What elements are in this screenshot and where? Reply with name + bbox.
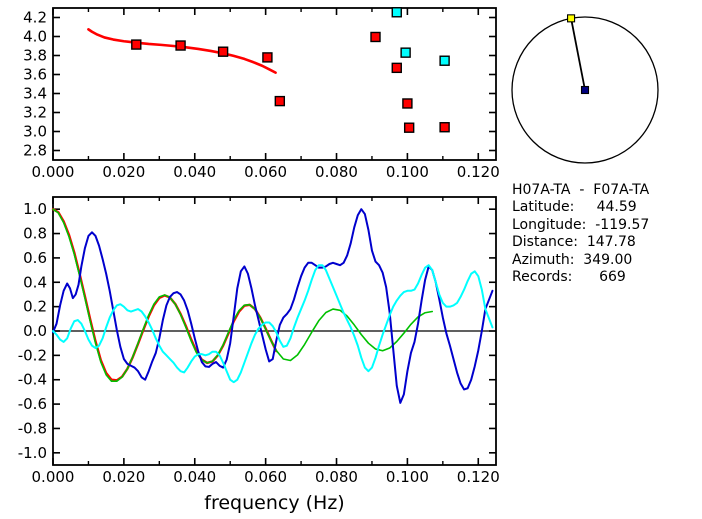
y-tick-label: 4.0 <box>23 28 47 46</box>
y-tick-label: -0.8 <box>18 419 47 437</box>
station-info-panel: H07A-TA - F07A-TA Latitude: 44.59 Longit… <box>512 182 702 286</box>
info-line-longitude: Longitude: -119.57 <box>512 217 702 234</box>
x-tick-label: 0.060 <box>244 163 287 181</box>
azimuth-ray <box>571 18 585 90</box>
y-tick-label: -1.0 <box>18 444 47 462</box>
y-tick-label: 0.6 <box>23 249 47 267</box>
x-tick-label: 0.100 <box>386 163 429 181</box>
x-tick-label: 0.120 <box>457 163 500 181</box>
x-tick-label: 0.120 <box>457 468 500 486</box>
dispersion-plot: 0.0000.0200.0400.0600.0800.1000.1202.83.… <box>23 8 500 181</box>
data-marker <box>405 123 414 132</box>
cross-correlation-plot: 0.0000.0200.0400.0600.0800.1000.120-1.0-… <box>18 197 500 514</box>
data-marker <box>392 63 401 72</box>
y-tick-label: -0.2 <box>18 346 47 364</box>
x-tick-label: 0.100 <box>386 468 429 486</box>
y-tick-label: -0.4 <box>18 371 47 389</box>
plot-frame <box>53 8 496 160</box>
data-marker <box>401 48 410 57</box>
data-marker <box>440 123 449 132</box>
info-line-azimuth: Azimuth: 349.00 <box>512 252 702 269</box>
x-tick-label: 0.040 <box>173 163 216 181</box>
y-tick-label: 1.0 <box>23 200 47 218</box>
y-tick-label: 0.4 <box>23 273 47 291</box>
y-tick-label: 0.8 <box>23 225 47 243</box>
data-marker <box>275 97 284 106</box>
data-marker <box>176 41 185 50</box>
y-tick-label: 0.2 <box>23 298 47 316</box>
info-line-distance: Distance: 147.78 <box>512 234 702 251</box>
x-tick-label: 0.080 <box>315 468 358 486</box>
curve-cyan-observed <box>53 265 492 382</box>
curve-blue-observed <box>53 209 492 403</box>
x-tick-label: 0.060 <box>244 468 287 486</box>
data-marker <box>371 32 380 41</box>
y-tick-label: -0.6 <box>18 395 47 413</box>
data-marker <box>403 99 412 108</box>
data-marker <box>132 40 141 49</box>
y-tick-label: 3.6 <box>23 66 47 84</box>
data-marker <box>440 56 449 65</box>
azimuth-endpoint-marker <box>568 15 575 22</box>
y-tick-label: 3.8 <box>23 47 47 65</box>
y-tick-label: 3.0 <box>23 123 47 141</box>
y-tick-label: 4.2 <box>23 9 47 27</box>
x-tick-label: 0.040 <box>173 468 216 486</box>
y-tick-label: 3.4 <box>23 85 47 103</box>
data-marker <box>263 53 272 62</box>
info-line-title: H07A-TA - F07A-TA <box>512 182 702 199</box>
x-tick-label: 0.000 <box>32 163 75 181</box>
info-line-records: Records: 669 <box>512 269 702 286</box>
y-tick-label: 2.8 <box>23 142 47 160</box>
x-tick-label: 0.080 <box>315 163 358 181</box>
y-tick-label: 0.0 <box>23 322 47 340</box>
y-tick-label: 3.2 <box>23 104 47 122</box>
x-tick-label: 0.020 <box>102 468 145 486</box>
data-marker <box>392 8 401 17</box>
azimuth-diagram <box>512 15 658 163</box>
info-line-latitude: Latitude: 44.59 <box>512 199 702 216</box>
data-marker <box>219 47 228 56</box>
figure-root: 0.0000.0200.0400.0600.0800.1000.1202.83.… <box>0 0 702 519</box>
azimuth-center-marker <box>582 87 589 94</box>
x-tick-label: 0.020 <box>102 163 145 181</box>
x-axis-title: frequency (Hz) <box>204 492 344 514</box>
x-tick-label: 0.000 <box>32 468 75 486</box>
curve-model-curve <box>88 29 275 72</box>
